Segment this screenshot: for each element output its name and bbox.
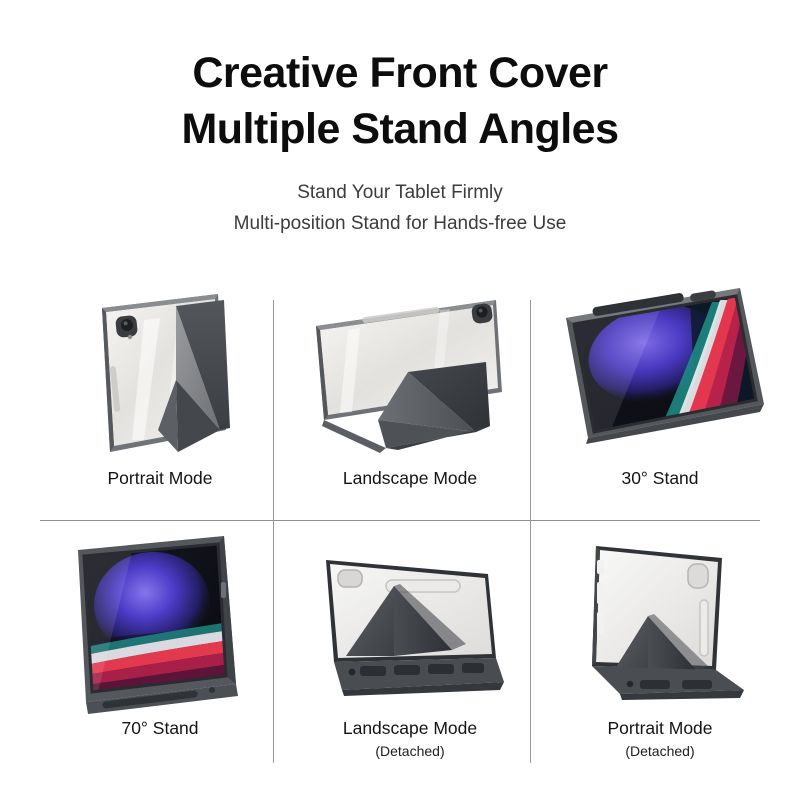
cell-landscape-mode-detached: Landscape Mode (Detached) — [290, 530, 530, 780]
caption-text: Landscape Mode — [343, 468, 477, 488]
caption-text: Portrait Mode — [107, 468, 212, 488]
subhead-line-1: Stand Your Tablet Firmly — [0, 178, 800, 209]
caption-text: Portrait Mode — [607, 718, 712, 738]
cell-landscape-mode: Landscape Mode — [290, 280, 530, 530]
grid-divider-vertical-4 — [530, 523, 531, 763]
headline-line-1: Creative Front Cover — [0, 46, 800, 102]
caption-stand-70: 70° Stand — [40, 718, 280, 739]
caption-portrait-mode-detached: Portrait Mode (Detached) — [540, 718, 780, 759]
caption-subtext: (Detached) — [290, 743, 530, 759]
product-feature-graphic: Creative Front Cover Multiple Stand Angl… — [0, 0, 800, 800]
caption-text: 30° Stand — [621, 468, 698, 488]
cell-stand-70: 70° Stand — [40, 530, 280, 780]
caption-portrait-mode: Portrait Mode — [40, 468, 280, 489]
product-image-stand-30 — [540, 280, 780, 470]
caption-landscape-mode: Landscape Mode — [290, 468, 530, 489]
caption-text: Landscape Mode — [343, 718, 477, 738]
product-image-landscape-mode-detached — [290, 530, 530, 720]
subhead-line-2: Multi-position Stand for Hands-free Use — [0, 209, 800, 240]
product-image-stand-70 — [40, 530, 280, 720]
page-subtitle: Stand Your Tablet Firmly Multi-position … — [0, 178, 800, 240]
feature-grid: Portrait Mode — [40, 275, 760, 780]
cell-portrait-mode: Portrait Mode — [40, 280, 280, 530]
page-title: Creative Front Cover Multiple Stand Angl… — [0, 46, 800, 158]
cell-portrait-mode-detached: Portrait Mode (Detached) — [540, 530, 780, 780]
caption-subtext: (Detached) — [540, 743, 780, 759]
caption-stand-30: 30° Stand — [540, 468, 780, 489]
caption-text: 70° Stand — [121, 718, 198, 738]
product-image-portrait-mode — [40, 280, 280, 470]
product-image-landscape-mode — [290, 280, 530, 470]
caption-landscape-mode-detached: Landscape Mode (Detached) — [290, 718, 530, 759]
product-image-portrait-mode-detached — [540, 530, 780, 720]
headline-line-2: Multiple Stand Angles — [0, 102, 800, 158]
grid-divider-vertical-2 — [530, 300, 531, 550]
cell-stand-30: 30° Stand — [540, 280, 780, 530]
